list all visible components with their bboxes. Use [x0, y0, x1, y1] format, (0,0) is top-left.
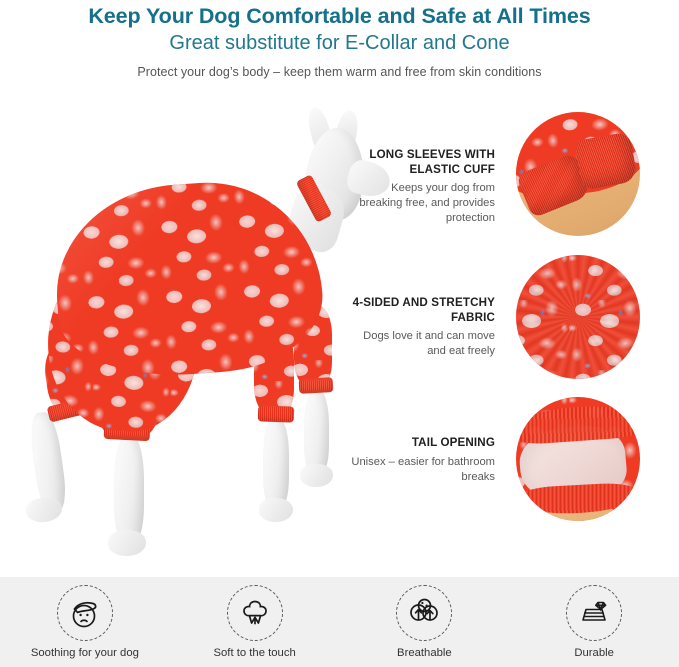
feature-bar: Soothing for your dog Soft to the touch [0, 577, 679, 667]
feature-label: Soothing for your dog [31, 647, 139, 659]
callout-body: Unisex – easier for bathroom breaks [347, 455, 495, 485]
cuff-front-right [299, 377, 334, 394]
feature-breathable: Breathable [340, 585, 510, 659]
dog-paw-back-left [25, 496, 63, 524]
callout-long-sleeves: LONG SLEEVES WITH ELASTIC CUFF Keeps you… [347, 148, 495, 226]
headline: Keep Your Dog Comfortable and Safe at Al… [0, 4, 679, 29]
feature-soothing: Soothing for your dog [0, 585, 170, 659]
callout-body: Keeps your dog from breaking free, and p… [347, 181, 495, 226]
tail-opening-detail-photo [516, 397, 640, 521]
callout-stretchy-fabric: 4-SIDED AND STRETCHY FABRIC Dogs love it… [347, 296, 495, 359]
callout-tail-opening: TAIL OPENING Unisex – easier for bathroo… [347, 436, 495, 485]
feature-label: Breathable [397, 647, 452, 659]
callout-title: 4-SIDED AND STRETCHY FABRIC [347, 296, 495, 325]
callout-body: Dogs love it and can move and eat freely [347, 329, 495, 359]
feature-label: Soft to the touch [213, 647, 295, 659]
callout-title: LONG SLEEVES WITH ELASTIC CUFF [347, 148, 495, 177]
feature-soft: Soft to the touch [170, 585, 340, 659]
dog-shin-back-right [114, 436, 144, 544]
fabric-diamond-icon [566, 585, 622, 641]
callout-title: TAIL OPENING [347, 436, 495, 451]
cotton-boll-icon [227, 585, 283, 641]
feature-label: Durable [574, 647, 614, 659]
dog-face-comfort-icon [57, 585, 113, 641]
cuff-detail-photo [516, 112, 640, 236]
dog-shin-front-left [263, 418, 289, 510]
pajama-torso [50, 175, 328, 383]
dog-paw-front-right [300, 464, 333, 487]
product-showcase: LONG SLEEVES WITH ELASTIC CUFF Keeps you… [0, 98, 679, 577]
stretch-fabric-detail-photo [516, 255, 640, 379]
feature-durable: Durable [509, 585, 679, 659]
cuff-front-left [258, 405, 295, 422]
header: Keep Your Dog Comfortable and Safe at Al… [0, 0, 679, 79]
breathable-clouds-arrows-icon [396, 585, 452, 641]
tagline: Protect your dog’s body – keep them warm… [0, 65, 679, 79]
dog-mannequin-photo [18, 106, 358, 566]
subheadline: Great substitute for E-Collar and Cone [0, 30, 679, 56]
dog-paw-front-left [259, 498, 293, 522]
dog-paw-back-right [108, 530, 146, 556]
